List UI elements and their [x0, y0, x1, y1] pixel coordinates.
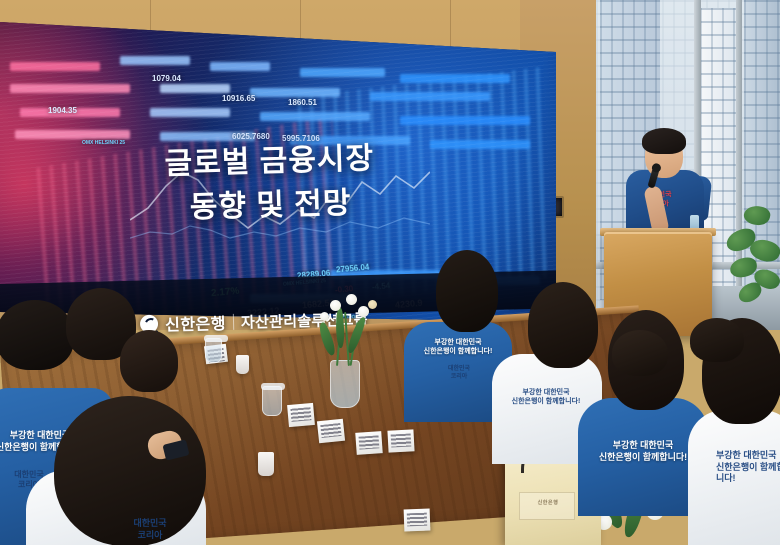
name-card [355, 431, 382, 455]
name-card [317, 419, 345, 444]
name-card [404, 509, 431, 532]
flower-vase [330, 360, 360, 408]
attendee-shirt-slogan: 부강한 대한민국 신한은행이 함께합니다! [584, 440, 702, 463]
name-card [287, 403, 315, 427]
attendee-shirt-sublogo: 대한민국 코리아 [112, 518, 188, 541]
iced-drink-cup [262, 386, 282, 416]
gift-bag-brand-text: 신한은행 [523, 499, 573, 506]
paper-cup [236, 355, 249, 374]
iced-drink-cup [205, 338, 222, 363]
paper-cup [258, 452, 274, 476]
potted-plant [724, 196, 780, 316]
white-flower [346, 294, 357, 305]
attendee-shirt-slogan: 부강한 대한민국 신한은행이 함께합니다! [716, 450, 780, 485]
white-flower [358, 306, 369, 317]
name-card [387, 429, 414, 452]
speaker-hair [642, 128, 686, 154]
brand-name: 신한은행 [165, 310, 226, 335]
white-flower [368, 300, 377, 309]
gift-bag-label [519, 492, 575, 520]
brand-divider [233, 314, 234, 330]
attendee-shirt-slogan: 부강한 대한민국 신한은행이 함께합니다! [500, 388, 592, 406]
attendee-shirt-sublogo: 대한민국 코리아 [424, 366, 494, 382]
presentation-title: 글로벌 금융시장 동향 및 전망 [0, 132, 541, 234]
seminar-photo: 1904.35 1079.04 10916.65 1860.51 6025.76… [0, 0, 780, 545]
attendee-shirt-slogan: 부강한 대한민국 신한은행이 함께합니다! [408, 338, 508, 356]
white-flower [320, 312, 329, 321]
white-flower [330, 300, 341, 311]
